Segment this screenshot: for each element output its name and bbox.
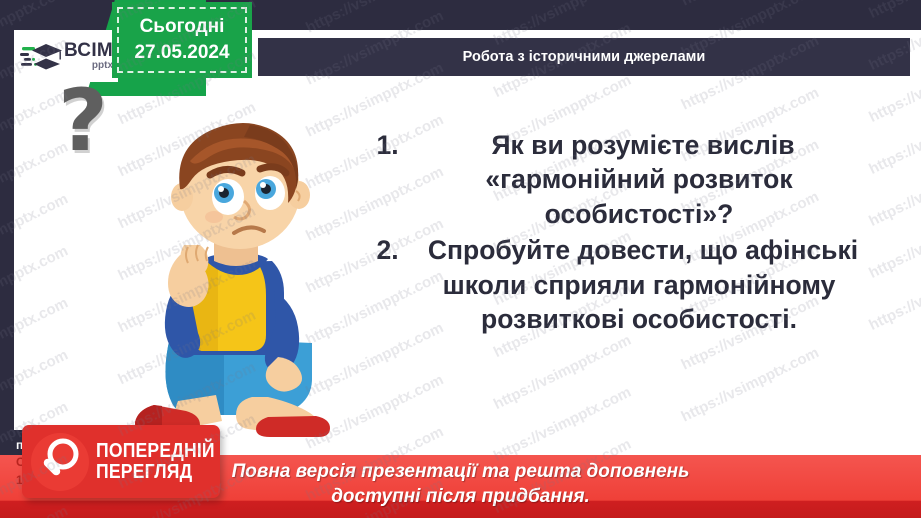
list-item: Як ви розумієте вислів «гармонійний розв…: [406, 128, 872, 231]
thinking-boy-illustration: [118, 105, 368, 440]
logo-subtitle: pptx: [64, 61, 113, 71]
slide-title-bar: Робота з історичними джерелами: [258, 38, 910, 76]
today-label: Сьогодні: [140, 14, 225, 40]
logo-title: ВСІМ: [64, 41, 113, 60]
preview-badge-line-2: ПЕРЕГЛЯД: [96, 462, 215, 482]
purchase-notice-line-2: доступні після придбання.: [331, 485, 590, 509]
preview-badge[interactable]: ПОПЕРЕДНІЙ ПЕРЕГЛЯД: [22, 425, 220, 498]
page-title: Робота з історичними джерелами: [463, 49, 706, 65]
question-list: Як ви розумієте вислів «гармонійний розв…: [372, 128, 872, 339]
today-date-badge: Сьогодні 27.05.2024: [112, 2, 252, 78]
list-item: Спробуйте довести, що афінські школи спр…: [406, 233, 872, 336]
purchase-notice-line-1: Повна версія презентації та решта доповн…: [232, 460, 690, 484]
question-mark-icon: ?: [58, 78, 108, 164]
question-item-1: Як ви розумієте вислів «гармонійний розв…: [483, 130, 794, 229]
today-date: 27.05.2024: [134, 40, 229, 66]
preview-badge-line-1: ПОПЕРЕДНІЙ: [96, 441, 215, 461]
presentation-slide: ВСІМ pptx Сьогодні 27.05.2024 Робота з і…: [0, 0, 921, 518]
graduation-cap-icon: [20, 39, 62, 73]
question-item-2: Спробуйте довести, що афінські школи спр…: [420, 235, 858, 334]
magnifier-icon: [31, 433, 89, 491]
